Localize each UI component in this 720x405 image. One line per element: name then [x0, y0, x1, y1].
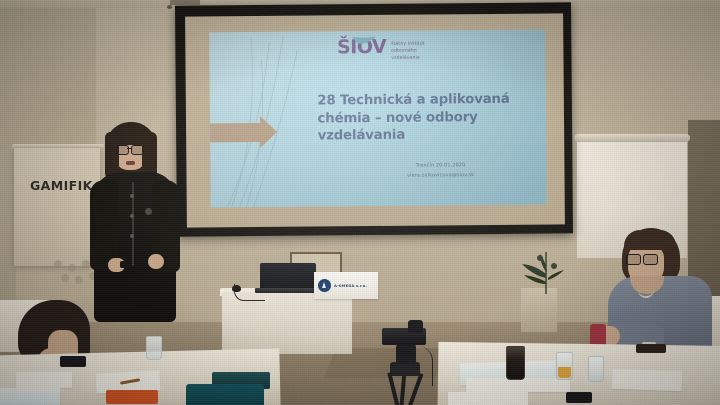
water-glass	[146, 336, 162, 360]
siov-logo: ŠIOV štátny inštitút odborného vzdelávan…	[337, 38, 425, 63]
logo-subtitle: štátny inštitút odborného vzdelávania	[391, 42, 425, 63]
laptop-mouse	[232, 285, 241, 292]
presentation-clicker	[120, 261, 132, 268]
table-sign-text: A-OMEGA s.r.o.	[334, 284, 367, 288]
lapel-badge	[145, 208, 152, 215]
arrow-accent-bar	[209, 123, 262, 142]
wall-left-section	[0, 0, 96, 150]
camera-lens	[408, 320, 423, 333]
center-table	[222, 292, 352, 354]
banner-text: GAMIFIK	[30, 178, 93, 193]
projection-screen: ŠIOV štátny inštitút odborného vzdelávan…	[175, 2, 573, 236]
attendee-right-fringe	[624, 230, 676, 250]
attendee-right-glasses-icon	[626, 254, 658, 263]
paper-sheet	[466, 378, 570, 392]
presenter-hand-right	[148, 254, 164, 269]
plant-pot	[521, 288, 557, 332]
logo-mark: ŠIOV	[337, 38, 386, 57]
tripod-neck	[396, 344, 416, 364]
red-phone-case	[590, 324, 606, 346]
phone-on-table	[60, 356, 86, 367]
presenter-glasses-icon	[116, 145, 145, 153]
camera-cable	[418, 346, 433, 386]
jacket-button	[130, 214, 134, 218]
presenter-mouth	[126, 161, 135, 165]
seated-attendee-right	[600, 228, 720, 358]
jacket-button	[130, 234, 134, 238]
photo-scene: ŠIOV štátny inštitút odborného vzdelávan…	[0, 0, 720, 405]
tablet-device	[186, 384, 264, 405]
table-sign: A-OMEGA s.r.o.	[314, 272, 378, 299]
smoke-detector-icon	[167, 5, 172, 9]
screen-surface: ŠIOV štátny inštitút odborného vzdelávan…	[185, 13, 565, 227]
presentation-slide: ŠIOV štátny inštitút odborného vzdelávan…	[209, 30, 547, 208]
jacket-button	[130, 194, 134, 198]
laptop-screen	[260, 263, 316, 289]
arrow-accent-head	[260, 116, 277, 148]
flipchart-top-bar	[574, 134, 690, 142]
paper-sheet	[0, 388, 60, 405]
circle-emblem-icon	[318, 279, 331, 292]
camera-on-tripod	[376, 322, 446, 405]
paper-sheet	[16, 372, 72, 388]
juice-glass	[556, 352, 573, 380]
phone-on-table	[566, 392, 592, 403]
slide-title: 28 Technická a aplikovaná chémia – nové …	[317, 91, 526, 145]
bird-swoosh-icon	[351, 32, 377, 41]
ceiling-vent	[170, 0, 200, 5]
potted-plant	[510, 248, 580, 294]
dark-drink-glass	[506, 346, 525, 380]
tripod-leg	[398, 372, 406, 405]
dark-remote	[636, 344, 666, 353]
presenter-arm-left	[90, 180, 118, 270]
slide-email: viera.zalkovicova@siov.sk	[358, 171, 523, 182]
paper-sheet	[612, 369, 683, 391]
slide-meta: Trenčín 20.01.2020 viera.zalkovicova@sio…	[358, 161, 523, 182]
water-glass	[588, 356, 604, 382]
tripod-head	[390, 362, 420, 376]
laptop	[260, 263, 316, 293]
orange-folder	[106, 390, 158, 404]
paper-sheet	[448, 392, 528, 405]
